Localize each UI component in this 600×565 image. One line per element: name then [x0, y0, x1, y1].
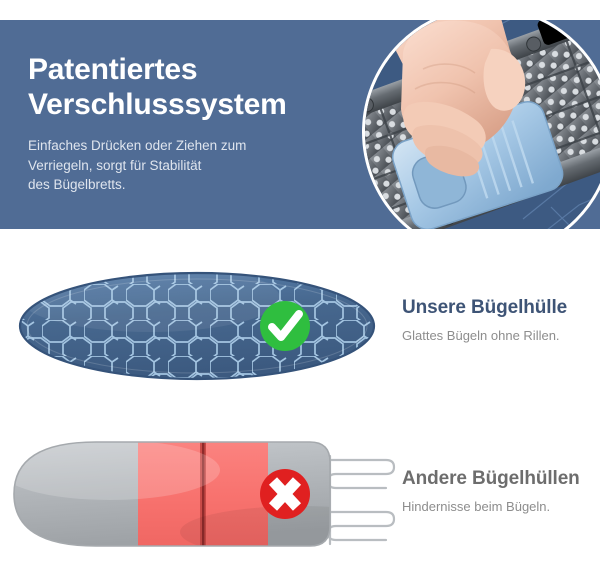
our-cover-subtitle: Glattes Bügeln ohne Rillen. — [402, 328, 567, 343]
check-badge — [260, 301, 310, 351]
other-cover-caption: Andere Bügelhüllen Hindernisse beim Büge… — [402, 468, 580, 514]
our-cover-illustration — [0, 248, 400, 408]
our-cover-title: Unsere Bügelhülle — [402, 297, 567, 319]
cross-badge — [260, 469, 310, 519]
hero-text-block: Patentiertes Verschlusssystem Einfaches … — [28, 52, 348, 195]
locking-system-photo — [365, 20, 600, 229]
our-cover-figure — [0, 248, 400, 408]
hero-subtitle: Einfaches Drücken oder Ziehen zum Verrie… — [28, 136, 348, 195]
wire-rack — [322, 456, 394, 544]
comparison-row-bad: Andere Bügelhüllen Hindernisse beim Büge… — [0, 420, 600, 565]
hero-banner: Patentiertes Verschlusssystem Einfaches … — [0, 20, 600, 229]
hero-photo-ring — [362, 20, 600, 229]
other-cover-title: Andere Bügelhüllen — [402, 468, 580, 490]
our-cover-caption: Unsere Bügelhülle Glattes Bügeln ohne Ri… — [402, 297, 567, 343]
comparison-row-good: Unsere Bügelhülle Glattes Bügeln ohne Ri… — [0, 248, 600, 408]
other-cover-figure — [0, 420, 400, 565]
locking-system-illustration — [365, 20, 600, 229]
other-cover-subtitle: Hindernisse beim Bügeln. — [402, 499, 580, 514]
page-title: Patentiertes Verschlusssystem — [28, 52, 348, 122]
other-cover-illustration — [0, 420, 400, 565]
